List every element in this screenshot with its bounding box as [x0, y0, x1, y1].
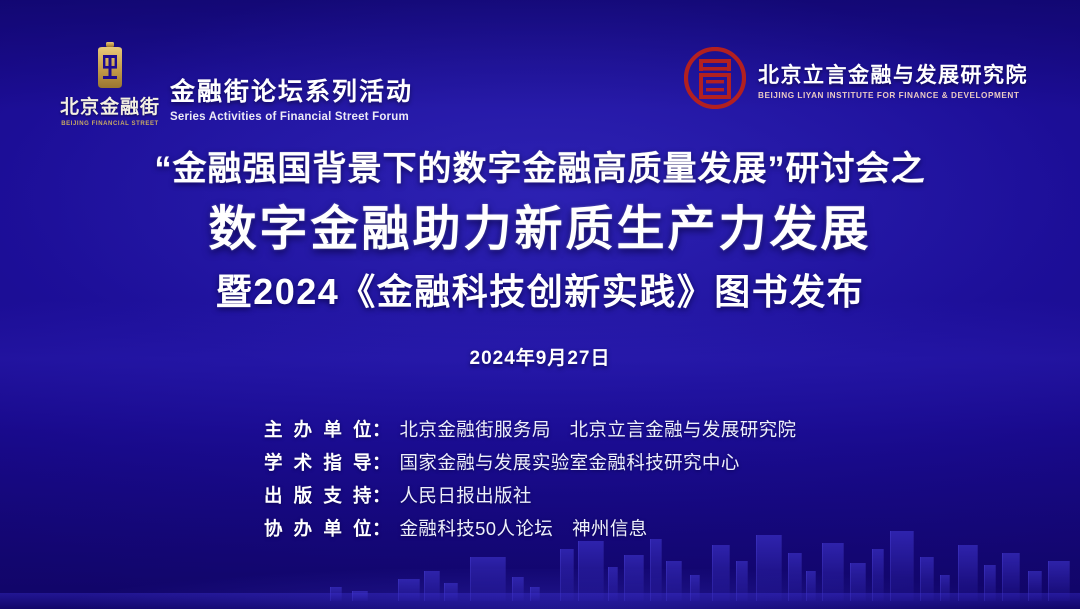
title-line-2: 数字金融助力新质生产力发展 — [0, 201, 1080, 259]
credit-colon: ： — [372, 481, 391, 511]
credit-value: 国家金融与发展实验室金融科技研究中心 — [400, 448, 740, 478]
credit-row: 主办单位：北京金融街服务局 北京立言金融与发展研究院 — [264, 415, 816, 445]
credit-colon: ： — [372, 415, 391, 445]
credits-block: 主办单位：北京金融街服务局 北京立言金融与发展研究院 学术指导：国家金融与发展实… — [0, 415, 1080, 544]
credit-value: 北京金融街服务局 北京立言金融与发展研究院 — [400, 415, 797, 445]
credit-row: 学术指导：国家金融与发展实验室金融科技研究中心 — [264, 448, 816, 478]
forum-title-block: 金融街论坛系列活动 Series Activities of Financial… — [170, 72, 413, 127]
credit-value: 人民日报出版社 — [400, 481, 532, 511]
financial-street-logo: 北京金融街 BEIJING FINANCIAL STREET 金融街论坛系列活动… — [62, 42, 413, 127]
credit-label: 出版支持 — [264, 481, 372, 511]
event-date: 2024年9月27日 — [0, 343, 1080, 370]
liyan-title-cn: 北京立言金融与发展研究院 — [758, 59, 1028, 89]
credit-row: 协办单位：金融科技50人论坛 神州信息 — [264, 514, 816, 544]
credit-label: 主办单位 — [264, 415, 372, 445]
poster-canvas: 北京金融街 BEIJING FINANCIAL STREET 金融街论坛系列活动… — [0, 0, 1080, 609]
financial-street-cn-name: 北京金融街 — [60, 92, 160, 119]
title-line-1: “金融强国背景下的数字金融高质量发展”研讨会之 — [0, 148, 1080, 191]
gold-seal-bell-icon — [90, 42, 130, 90]
title-line-3: 暨2024《金融科技创新实践》图书发布 — [0, 270, 1080, 313]
liyan-title-en: BEIJING LIYAN INSTITUTE FOR FINANCE & DE… — [758, 91, 1028, 100]
credit-value: 金融科技50人论坛 神州信息 — [400, 514, 648, 544]
credit-colon: ： — [372, 514, 391, 544]
credit-label: 协办单位 — [264, 514, 372, 544]
forum-title-cn: 金融街论坛系列活动 — [170, 72, 413, 108]
financial-street-en-name: BEIJING FINANCIAL STREET — [61, 121, 159, 127]
poster-header: 北京金融街 BEIJING FINANCIAL STREET 金融街论坛系列活动… — [0, 0, 1080, 135]
forum-title-en: Series Activities of Financial Street Fo… — [170, 111, 413, 123]
financial-street-mark: 北京金融街 BEIJING FINANCIAL STREET — [62, 42, 158, 127]
poster-title-group: “金融强国背景下的数字金融高质量发展”研讨会之 数字金融助力新质生产力发展 暨2… — [0, 148, 1080, 370]
credit-row: 出版支持：人民日报出版社 — [264, 481, 816, 511]
red-round-seal-icon — [684, 47, 746, 109]
credit-label: 学术指导 — [264, 448, 372, 478]
liyan-institute-logo: 北京立言金融与发展研究院 BEIJING LIYAN INSTITUTE FOR… — [684, 47, 1028, 109]
liyan-title-block: 北京立言金融与发展研究院 BEIJING LIYAN INSTITUTE FOR… — [758, 57, 1028, 100]
credit-colon: ： — [372, 448, 391, 478]
